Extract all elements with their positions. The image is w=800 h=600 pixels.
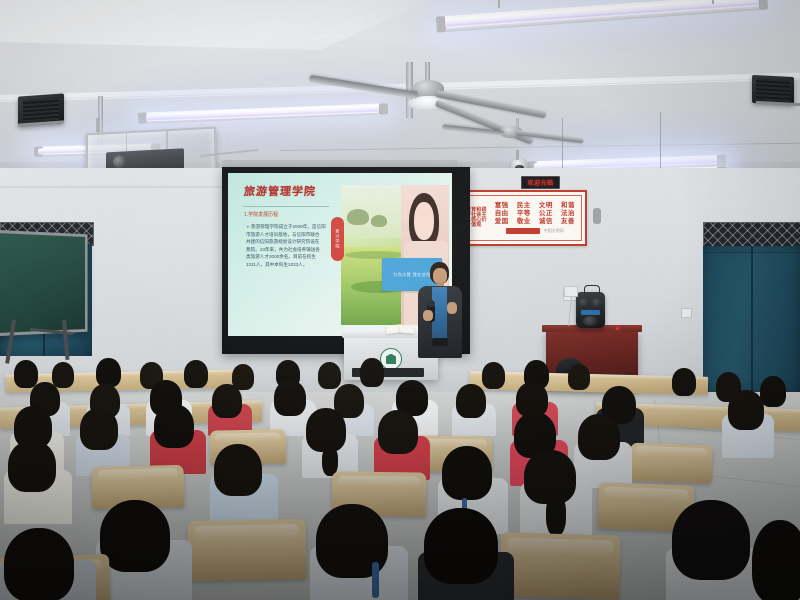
value-ziyou: 自由 xyxy=(495,210,509,218)
value-chengxin: 诚信 xyxy=(539,218,553,226)
student-head xyxy=(14,360,38,388)
student-ponytail xyxy=(546,494,566,536)
cabinet-power-led xyxy=(616,327,619,330)
wall-hook xyxy=(593,208,601,224)
door-transom-right xyxy=(703,222,800,248)
student-head xyxy=(274,380,306,416)
value-wenming: 文明 xyxy=(539,202,553,210)
slide-body-line-5: 类旅游人才2000余名。目前在校生 xyxy=(246,253,338,261)
student-head xyxy=(728,390,764,430)
slide-side-tab: 新兴学院 xyxy=(331,217,344,261)
chair[interactable] xyxy=(187,519,306,581)
value-fazhi: 法治 xyxy=(561,210,575,218)
screen-roller-case xyxy=(222,160,458,167)
value-fuqiang: 富强 xyxy=(495,202,509,210)
student-head xyxy=(752,520,800,600)
slide-title: 旅游管理学院 xyxy=(243,183,316,199)
banner-footer-tag: 中国文明网 xyxy=(544,228,564,234)
value-aiguo: 爱国 xyxy=(495,218,509,226)
core-values-banner: 培育和践行社会主义核心价值观 富强 民主 文明 和谐 自由 平等 公正 法治 爱… xyxy=(458,190,587,246)
pa-speaker-handle xyxy=(584,285,600,294)
door-right[interactable] xyxy=(703,246,800,394)
portable-pa-speaker[interactable] xyxy=(576,292,605,328)
lecture-hall-photo: 欢迎光临 培育和践行社会主义核心价值观 富强 民主 文明 和谐 自由 平等 公正… xyxy=(0,0,800,600)
chair[interactable] xyxy=(629,443,712,484)
student-head xyxy=(8,440,56,492)
slide-body-line-1: ➢ 旅游管理学院成立于2009年，是信阳 xyxy=(246,223,338,231)
banner-values-row-3: 爱国 敬业 诚信 友善 xyxy=(491,218,579,226)
wall-trim-left xyxy=(0,186,230,188)
value-pingdeng: 平等 xyxy=(517,210,531,218)
student-head xyxy=(378,410,418,454)
student-head xyxy=(456,384,486,418)
student-head xyxy=(80,408,118,450)
uniform-stripe xyxy=(372,562,379,598)
wall-socket xyxy=(564,286,578,297)
student-head xyxy=(100,500,170,572)
led-display-text: 欢迎光临 xyxy=(527,178,553,187)
student-head xyxy=(4,528,74,600)
slide-body-line-6: 1311人，其中本科生1033人。 xyxy=(246,261,338,269)
projector-mount-arm xyxy=(96,118,100,132)
student-head xyxy=(424,508,498,584)
lectern-paper-2 xyxy=(400,326,414,334)
presenter-belt xyxy=(432,338,448,346)
microphone-head xyxy=(427,300,435,307)
slide-body-line-3: 共建的信阳旅游规划设计研究院设在 xyxy=(246,238,338,246)
student-head xyxy=(154,404,194,448)
slide-body-text: ➢ 旅游管理学院成立于2009年，是信阳 市旅游人才培训基地，与信阳市联合 共建… xyxy=(246,223,338,268)
student-head xyxy=(568,364,590,390)
hanging-cable-1 xyxy=(562,118,563,174)
light-hanger-1 xyxy=(498,0,500,8)
student-head xyxy=(482,362,505,389)
banner-values-row-1: 富强 民主 文明 和谐 xyxy=(491,202,579,210)
value-youshan: 友善 xyxy=(561,218,575,226)
student-head xyxy=(672,368,696,396)
dome-camera-mount xyxy=(516,150,519,160)
student-head xyxy=(578,414,620,460)
slide-subtitle: 1.学院发展历程 xyxy=(244,211,278,218)
value-hexie: 和谐 xyxy=(561,202,575,210)
student-head xyxy=(96,358,121,387)
presenter-hand-right xyxy=(447,302,457,314)
slide-title-rule xyxy=(243,206,329,207)
slide-body-line-2: 市旅游人才培训基地，与信阳市联合 xyxy=(246,231,338,239)
hanging-cable-2 xyxy=(660,112,661,174)
student-head xyxy=(760,376,786,407)
chair[interactable] xyxy=(499,532,621,599)
slide-side-tab-label: 新兴学院 xyxy=(335,229,341,249)
value-jingye: 敬业 xyxy=(517,218,531,226)
student-head xyxy=(212,384,242,418)
student-head xyxy=(360,358,384,387)
student-head xyxy=(442,446,492,500)
student-head xyxy=(318,362,341,389)
slide-body-line-4: 我院。10年来，共为社会培养输送各 xyxy=(246,246,338,254)
student-head xyxy=(184,360,208,388)
student-head xyxy=(672,500,750,580)
wall-outlet-right xyxy=(681,308,692,318)
student-head xyxy=(52,362,74,388)
presenter-hand-left xyxy=(423,310,433,321)
value-gongzheng: 公正 xyxy=(539,210,553,218)
light-hanger-2 xyxy=(712,0,714,4)
student-head xyxy=(306,408,346,452)
student-head xyxy=(214,444,262,496)
banner-values-row-2: 自由 平等 公正 法治 xyxy=(491,210,579,218)
banner-logo-block xyxy=(506,228,540,234)
led-display: 欢迎光临 xyxy=(521,176,560,189)
value-minzhu: 民主 xyxy=(517,202,531,210)
